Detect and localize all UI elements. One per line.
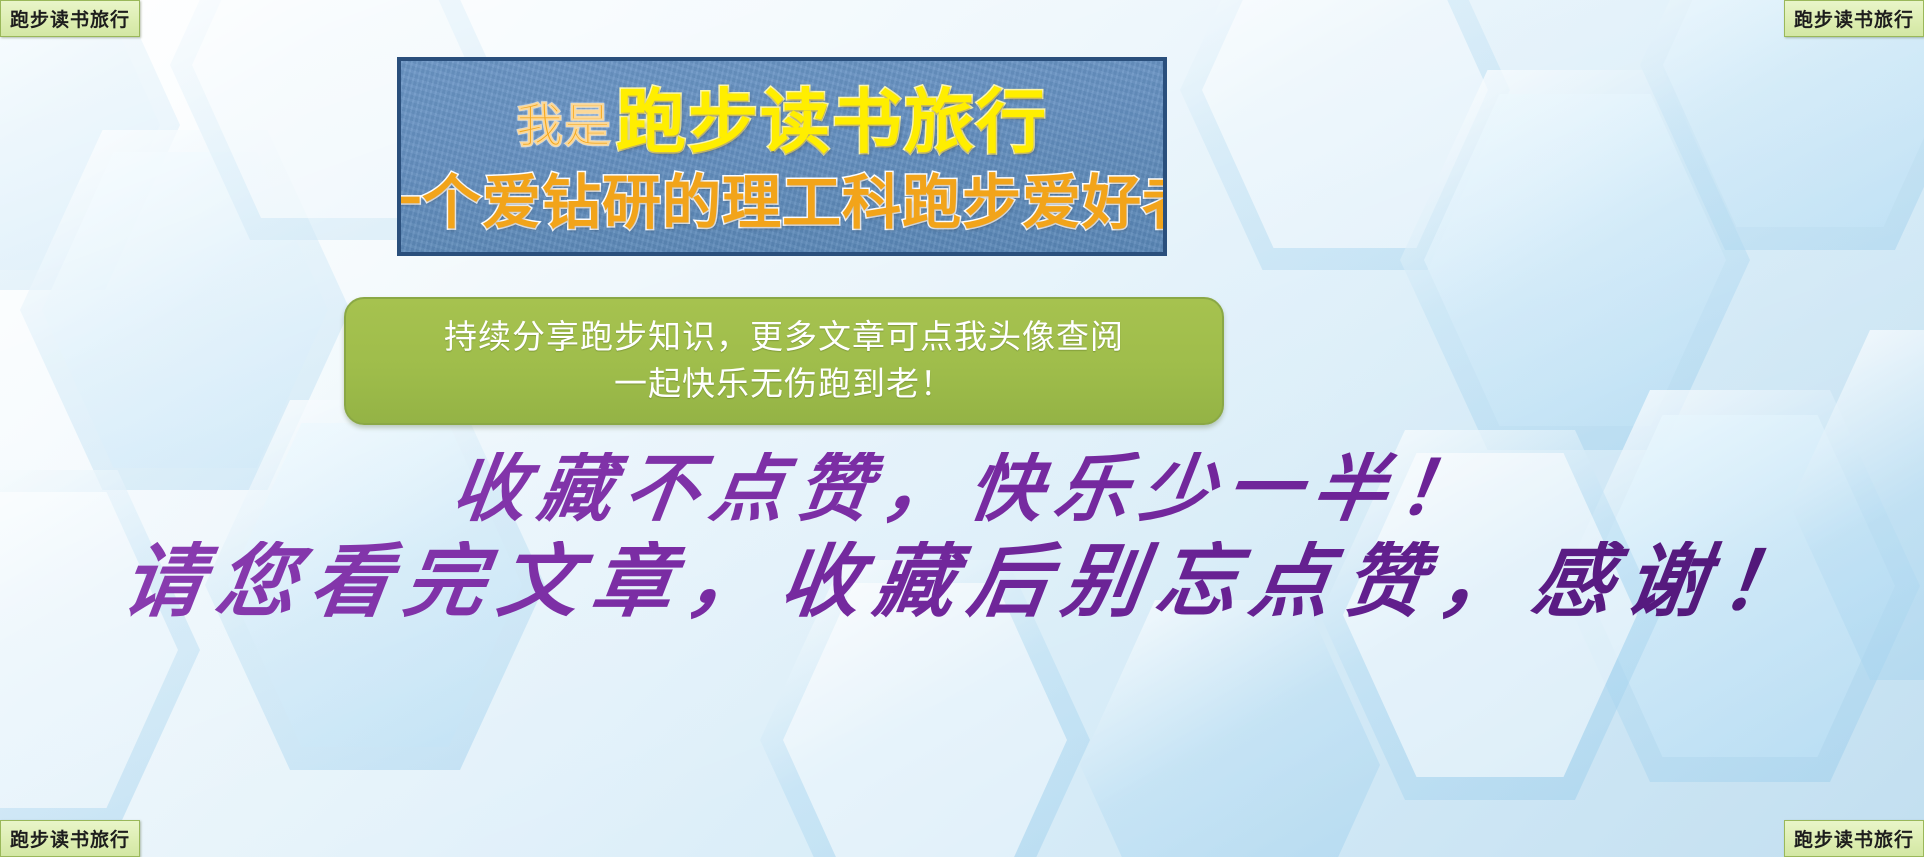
watermark-badge-top-left: 跑步读书旅行 (0, 0, 140, 37)
watermark-label: 跑步读书旅行 (10, 825, 130, 852)
calligraphy-line-1: 收藏不点赞，快乐少一半！ (0, 452, 1924, 527)
hero-banner-subtitle: 一个爱钻研的理工科跑步爱好者 (397, 173, 1167, 232)
hexagon-shape (1400, 70, 1750, 450)
hero-banner-title: 跑步读书旅行 (616, 87, 1048, 157)
notice-line-1: 持续分享跑步知识，更多文章可点我头像查阅 (444, 314, 1124, 361)
hexagon-shape (1560, 390, 1920, 782)
hexagon-shape-highlight (0, 492, 178, 808)
hexagon-shape (1180, 0, 1510, 270)
hexagon-shape (1790, 330, 1924, 680)
hexagon-shape (205, 400, 545, 770)
hexagon-shape-highlight (1202, 0, 1488, 248)
watermark-label: 跑步读书旅行 (10, 5, 130, 32)
hexagon-shape (1640, 0, 1924, 250)
hero-banner: 我是 跑步读书旅行 一个爱钻研的理工科跑步爱好者 (397, 57, 1167, 256)
hero-banner-title-row: 我是 跑步读书旅行 (516, 87, 1048, 157)
hexagon-shape-inner (0, 0, 160, 270)
hexagon-shape (20, 130, 350, 490)
hexagon-shape-highlight (783, 583, 1067, 857)
watermark-label: 跑步读书旅行 (1794, 5, 1914, 32)
hexagon-shape-inner (228, 423, 522, 747)
hexagon-shape-highlight (1343, 453, 1637, 777)
notice-box: 持续分享跑步知识，更多文章可点我头像查阅 一起快乐无伤跑到老！ (344, 297, 1224, 425)
hexagon-shape (0, 470, 200, 830)
hexagon-shape-inner (1585, 415, 1895, 757)
hexagon-shape (760, 560, 1090, 857)
hexagon-shape (0, 0, 180, 290)
hexagon-shape-inner (1424, 94, 1726, 426)
calligraphy-line-2: 请您看完文章，收藏后别忘点赞，感谢！ (0, 541, 1924, 623)
notice-line-2: 一起快乐无伤跑到老！ (614, 361, 954, 408)
hexagon-shape (1320, 430, 1660, 800)
watermark-badge-bottom-right: 跑步读书旅行 (1784, 820, 1924, 857)
hexagon-shape (1080, 600, 1380, 857)
calligraphy-block: 收藏不点赞，快乐少一半！ 请您看完文章，收藏后别忘点赞，感谢！ (0, 452, 1924, 623)
hero-banner-prefix: 我是 (516, 103, 612, 150)
watermark-badge-top-right: 跑步读书旅行 (1784, 0, 1924, 37)
watermark-label: 跑步读书旅行 (1794, 825, 1914, 852)
promo-canvas: 跑步读书旅行 跑步读书旅行 跑步读书旅行 跑步读书旅行 我是 跑步读书旅行 一个… (0, 0, 1924, 857)
hexagon-shape-inner (42, 152, 328, 468)
watermark-badge-bottom-left: 跑步读书旅行 (0, 820, 140, 857)
